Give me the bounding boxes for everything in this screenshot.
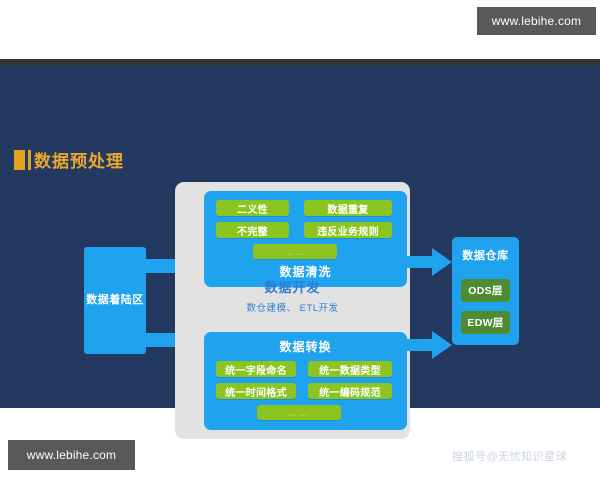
watermark-top: www.lebihe.com (477, 7, 596, 35)
arrow-right-bottom-icon (405, 330, 452, 360)
chip-unify-encoding-spec: 统一编码规范 (308, 383, 392, 399)
slide-canvas: www.lebihe.com 数据预处理 数据着陆区 二义性 数据重复 不完整 … (0, 0, 600, 480)
data-transform-title: 数据转换 (204, 338, 407, 355)
source-credit: 搜狐号@无忧知识星球 (452, 448, 567, 464)
slide-body: 数据预处理 数据着陆区 二义性 数据重复 不完整 违反业务规则 …… 数据清洗 … (0, 65, 600, 408)
chip-transform-more: …… (257, 405, 341, 420)
chip-unify-data-type: 统一数据类型 (308, 361, 392, 377)
page-title-text: 数据预处理 (34, 147, 124, 172)
data-warehouse-title: 数据仓库 (452, 247, 519, 263)
chip-business-rule-violation: 违反业务规则 (304, 222, 392, 238)
title-accent-bar-icon (14, 150, 25, 170)
chip-unify-time-format: 统一时间格式 (216, 383, 296, 399)
chip-duplicate-data: 数据重复 (304, 200, 392, 216)
page-title: 数据预处理 (14, 147, 124, 172)
chip-unify-field-naming: 统一字段命名 (216, 361, 296, 377)
warehouse-layer-ods: ODS层 (461, 279, 510, 302)
chip-incomplete: 不完整 (216, 222, 289, 238)
landing-zone-label: 数据着陆区 (86, 293, 144, 307)
data-transform-card: 数据转换 统一字段命名 统一数据类型 统一时间格式 统一编码规范 …… (204, 332, 407, 430)
data-development-subtitle: 数仓建模、 ETL开发 (175, 300, 410, 314)
landing-zone-box: 数据着陆区 (84, 247, 146, 354)
data-development-title: 数据开发 (175, 277, 410, 296)
chip-cleaning-more: …… (253, 244, 337, 259)
data-cleaning-card: 二义性 数据重复 不完整 违反业务规则 …… 数据清洗 (204, 191, 407, 287)
data-development-block: 数据开发 数仓建模、 ETL开发 (175, 277, 410, 314)
watermark-bottom: www.lebihe.com (8, 440, 135, 470)
data-warehouse-box: 数据仓库 ODS层 EDW层 (452, 237, 519, 345)
warehouse-layer-edw: EDW层 (461, 311, 510, 334)
arrow-right-top-icon (405, 247, 452, 277)
chip-ambiguity: 二义性 (216, 200, 289, 216)
